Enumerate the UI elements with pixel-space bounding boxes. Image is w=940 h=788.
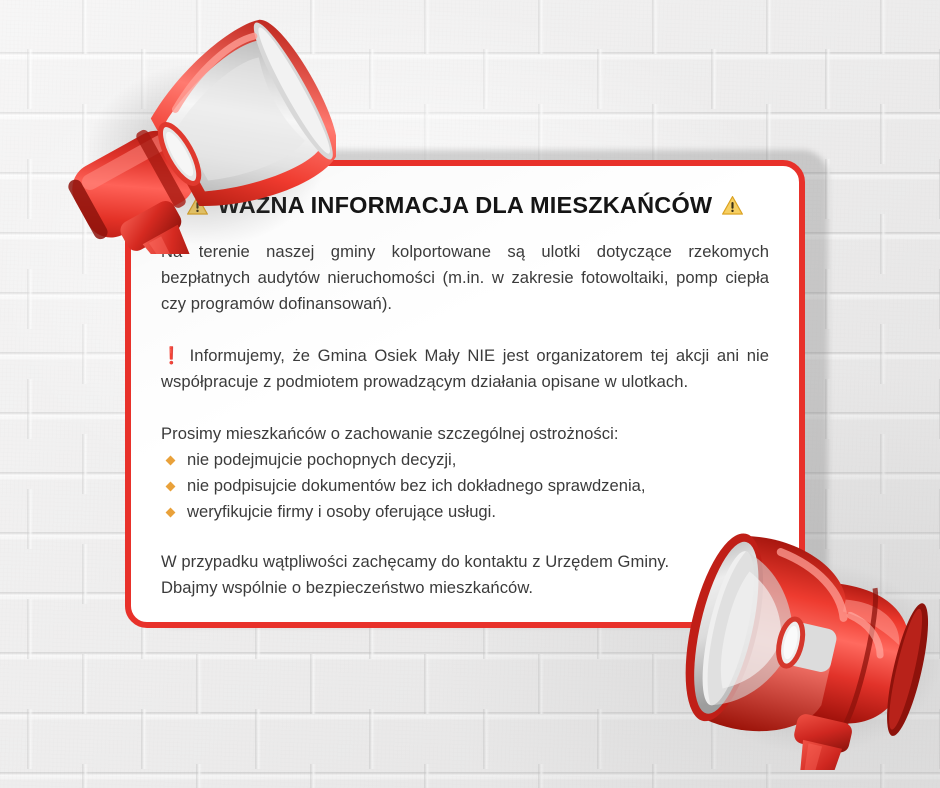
- page-title: WAŻNA INFORMACJA DLA MIESZKAŃCÓW: [161, 192, 769, 219]
- spacer: [161, 525, 769, 549]
- paragraph-not-organizer: ❗Informujemy, że Gmina Osiek Mały NIE je…: [161, 343, 769, 395]
- brick-row: [0, 764, 940, 788]
- list-item-label: nie podejmujcie pochopnych decyzji,: [187, 450, 456, 469]
- announcement-card: WAŻNA INFORMACJA DLA MIESZKAŃCÓW Na tere…: [125, 160, 805, 628]
- list-intro: Prosimy mieszkańców o zachowanie szczegó…: [161, 421, 769, 447]
- brick-row: [0, 654, 940, 714]
- closing-line-safety: Dbajmy wspólnie o bezpieczeństwo mieszka…: [161, 575, 769, 601]
- page-title-text: WAŻNA INFORMACJA DLA MIESZKAŃCÓW: [218, 192, 713, 219]
- list-item: weryfikujcie firmy i osoby oferujące usł…: [161, 499, 769, 525]
- warning-triangle-icon: [721, 194, 744, 217]
- list-item-label: nie podpisujcie dokumentów bez ich dokła…: [187, 476, 645, 495]
- poster: WAŻNA INFORMACJA DLA MIESZKAŃCÓW Na tere…: [0, 0, 940, 788]
- caution-list: nie podejmujcie pochopnych decyzji, nie …: [161, 447, 769, 525]
- warning-triangle-icon: [186, 194, 209, 217]
- brick-row: [0, 709, 940, 769]
- paragraph-not-organizer-text: Informujemy, że Gmina Osiek Mały NIE jes…: [161, 346, 769, 391]
- exclamation-icon: ❗: [161, 346, 190, 365]
- list-item-label: weryfikujcie firmy i osoby oferujące usł…: [187, 502, 496, 521]
- card-content: WAŻNA INFORMACJA DLA MIESZKAŃCÓW Na tere…: [131, 166, 799, 619]
- brick-row: [0, 49, 940, 109]
- closing-line-contact: W przypadku wątpliwości zachęcamy do kon…: [161, 549, 769, 575]
- spacer: [161, 317, 769, 343]
- list-item: nie podpisujcie dokumentów bez ich dokła…: [161, 473, 769, 499]
- list-item: nie podejmujcie pochopnych decyzji,: [161, 447, 769, 473]
- brick-row: [0, 0, 940, 54]
- paragraph-leaflets-notice: Na terenie naszej gminy kolportowane są …: [161, 239, 769, 317]
- spacer: [161, 395, 769, 421]
